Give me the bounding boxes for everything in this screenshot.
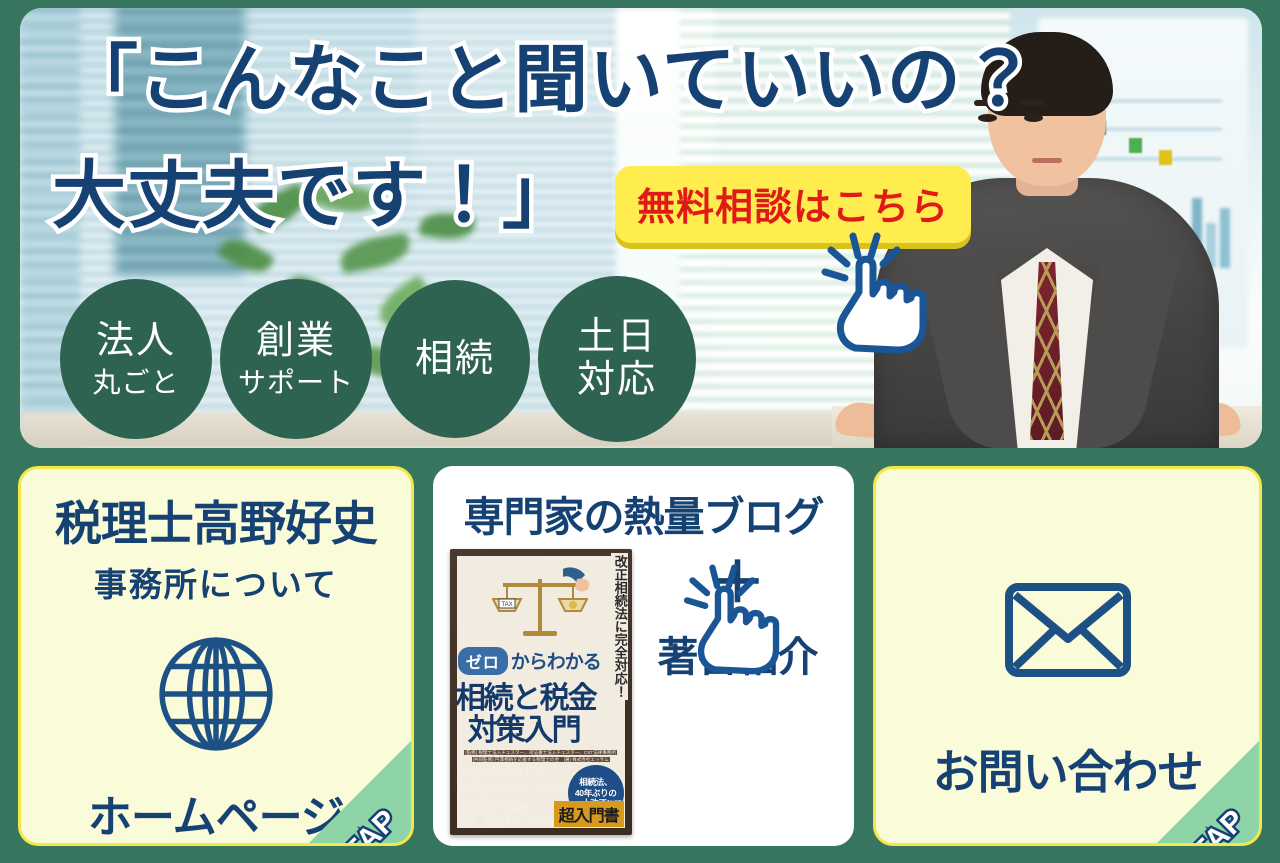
scales-illustration: TAX xyxy=(485,565,597,656)
hero-headline-line2: 大丈夫です！」 xyxy=(52,156,577,236)
tap-ribbon-label: TAP xyxy=(1186,803,1253,843)
tap-ribbon-label: TAP xyxy=(338,803,405,843)
contact-label: お問い合わせ xyxy=(933,736,1203,802)
envelope-icon xyxy=(1003,581,1133,684)
badge-sogyo[interactable]: 創業 サポート xyxy=(220,279,372,439)
office-name: 税理士高野好史 xyxy=(55,485,377,554)
action-cards: 税理士高野好史 事務所について ホームページ TAP 専門家の熱量ブログ xyxy=(18,466,1262,846)
book-cover: 改正相続法に完全対応！ TAX xyxy=(450,549,632,835)
globe-icon xyxy=(150,628,282,765)
svg-text:TAX: TAX xyxy=(501,602,512,608)
book-pill-row: ゼロ からわかる xyxy=(458,647,601,675)
badge-souzoku[interactable]: 相続 xyxy=(380,280,530,438)
blog-title: 専門家の熱量ブログ xyxy=(463,483,823,543)
service-badges: 法人 丸ごと 創業 サポート 相続 土日 対応 xyxy=(60,276,696,442)
book-credits: [監修] 税理士法人チェスター、司法書士法人チェスター、CST法律事務所 [共同… xyxy=(458,749,624,763)
hero-banner: 「こんなこと聞いていいの？ 大丈夫です！」 無料相談はこちら 法人 丸ごと 創業… xyxy=(20,8,1262,448)
book-badge: 超入門書 xyxy=(554,801,624,827)
homepage-label: ホームページ xyxy=(88,781,344,845)
badge-donichi[interactable]: 土日 対応 xyxy=(538,276,696,442)
card-homepage[interactable]: 税理士高野好史 事務所について ホームページ TAP xyxy=(18,466,414,846)
tap-hand-icon xyxy=(815,230,945,355)
card-blog-books[interactable]: 専門家の熱量ブログ 改正相続法に完全対応！ TAX xyxy=(433,466,855,846)
office-subtitle: 事務所について xyxy=(94,558,338,606)
hero-headline-line1: 「こんなこと聞いていいの？ xyxy=(64,40,1037,120)
book-band-text: 改正相続法に完全対応！ xyxy=(611,553,627,700)
book-title-line2: 対策入門 xyxy=(468,705,580,749)
card-contact[interactable]: お問い合わせ TAP xyxy=(873,466,1262,846)
tap-hand-icon xyxy=(678,561,796,677)
badge-houjin[interactable]: 法人 丸ごと xyxy=(60,279,212,439)
